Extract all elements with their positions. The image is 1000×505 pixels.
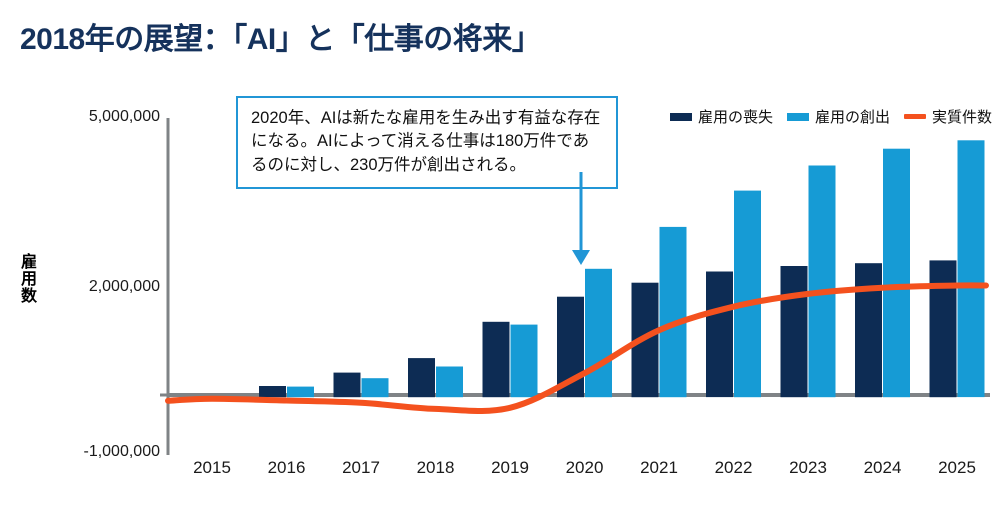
x-tick-label-2025: 2025 <box>922 458 992 478</box>
x-tick-label-2019: 2019 <box>475 458 545 478</box>
legend-swatch-job-loss <box>670 113 692 121</box>
bar-job-loss-2017 <box>334 373 361 398</box>
bar-job-creation-2017 <box>362 378 389 397</box>
bar-job-creation-2018 <box>436 367 463 398</box>
legend-label-job-loss: 雇用の喪失 <box>698 106 773 127</box>
x-tick-label-2024: 2024 <box>848 458 918 478</box>
bar-job-loss-2016 <box>259 386 286 397</box>
plot-area <box>0 0 1000 505</box>
x-tick-label-2018: 2018 <box>401 458 471 478</box>
chart-svg <box>0 0 1000 505</box>
legend-item-net-jobs: 実質件数 <box>904 106 992 127</box>
annotation-callout: 2020年、AIは新たな雇用を生み出す有益な存在になる。AIによって消える仕事は… <box>236 96 618 189</box>
x-tick-label-2015: 2015 <box>177 458 247 478</box>
bar-job-loss-2019 <box>483 322 510 397</box>
bar-job-loss-2018 <box>408 358 435 397</box>
bar-job-creation-2023 <box>809 166 836 398</box>
x-tick-label-2016: 2016 <box>252 458 322 478</box>
legend-swatch-job-creation <box>787 113 809 121</box>
bar-job-loss-2022 <box>706 272 733 398</box>
legend-item-job-loss: 雇用の喪失 <box>670 106 773 127</box>
bar-job-creation-2020 <box>585 269 612 397</box>
x-tick-label-2021: 2021 <box>624 458 694 478</box>
bar-job-loss-2024 <box>855 263 882 397</box>
bar-job-creation-2024 <box>883 149 910 398</box>
bar-job-creation-2019 <box>511 325 538 398</box>
bar-job-creation-2025 <box>958 140 985 397</box>
x-tick-label-2022: 2022 <box>699 458 769 478</box>
legend-label-job-creation: 雇用の創出 <box>815 106 890 127</box>
chart-page: 2018年の展望：「AI」と「仕事の将来」 5,000,000 2,000,00… <box>0 0 1000 505</box>
bar-job-creation-2016 <box>287 387 314 398</box>
legend-label-net-jobs: 実質件数 <box>932 106 992 127</box>
chart-legend: 雇用の喪失 雇用の創出 実質件数 <box>670 106 992 127</box>
x-tick-label-2020: 2020 <box>550 458 620 478</box>
legend-swatch-net-jobs <box>904 114 926 119</box>
legend-item-job-creation: 雇用の創出 <box>787 106 890 127</box>
bar-job-creation-2022 <box>734 191 761 398</box>
bar-job-loss-2023 <box>781 266 808 397</box>
bar-job-loss-2025 <box>930 260 957 397</box>
x-tick-label-2017: 2017 <box>326 458 396 478</box>
x-tick-label-2023: 2023 <box>773 458 843 478</box>
bar-job-creation-2021 <box>660 227 687 397</box>
